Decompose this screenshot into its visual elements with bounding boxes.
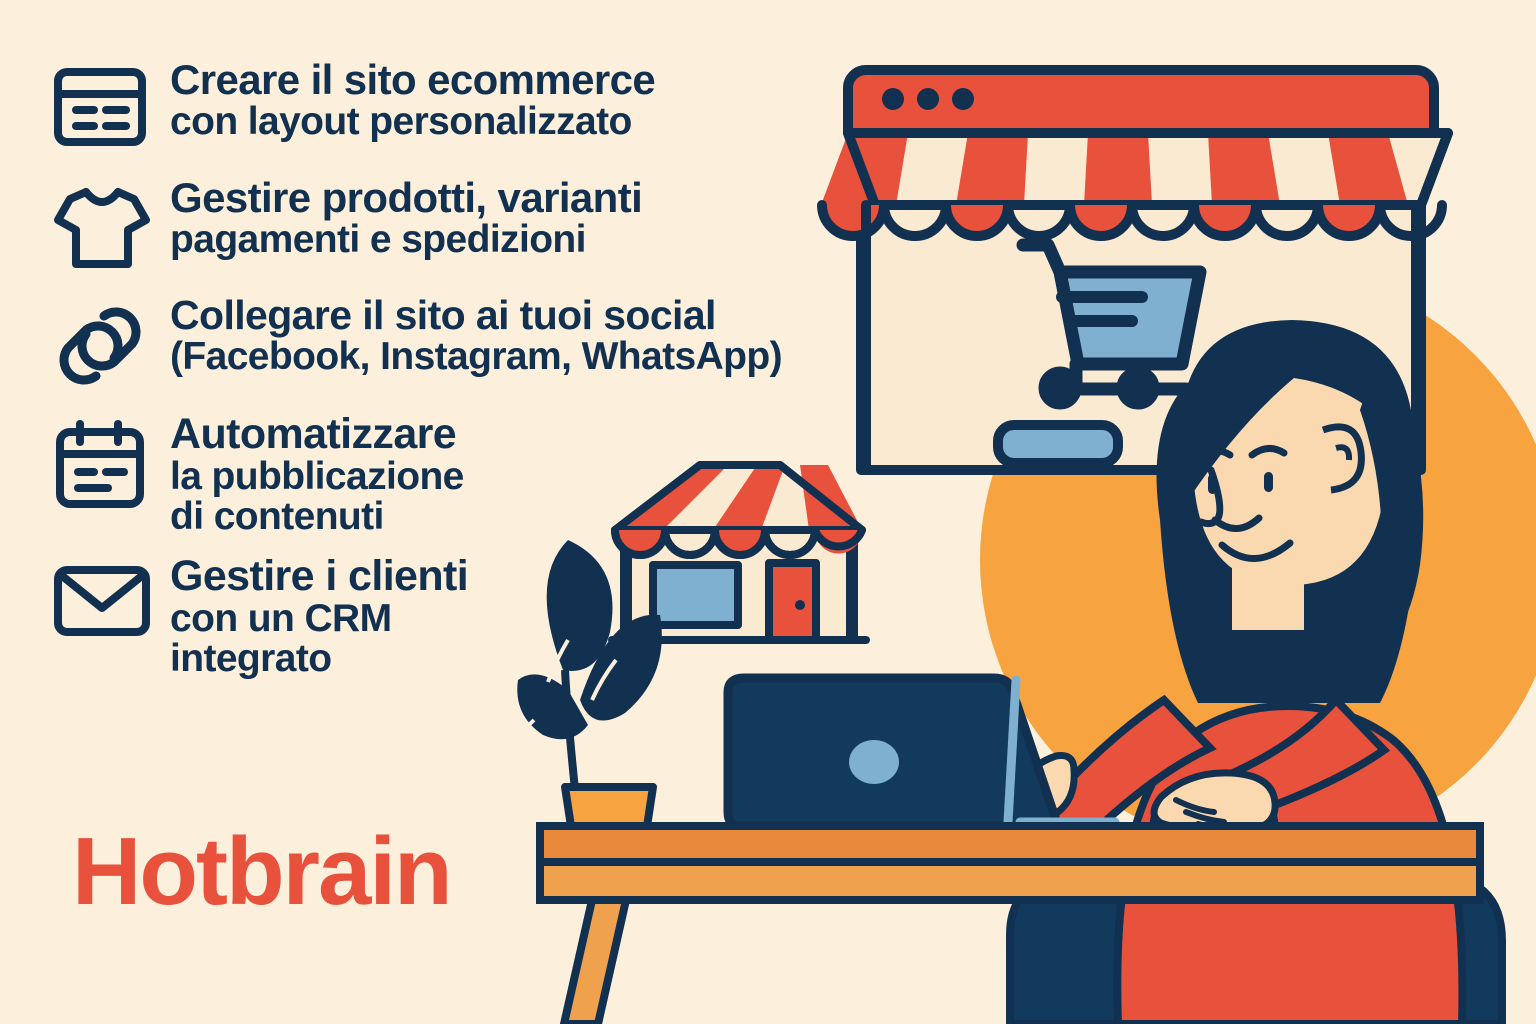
feature-line-2: (Facebook, Instagram, WhatsApp) <box>170 337 782 378</box>
link-icon <box>52 292 170 396</box>
feature-item-crm: Gestire i clienti con un CRM integrato <box>52 552 842 680</box>
envelope-icon <box>52 552 170 656</box>
feature-line-1: Collegare il sito ai tuoi social <box>170 292 716 338</box>
feature-item-products: Gestire prodotti, varianti pagamenti e s… <box>52 174 842 278</box>
feature-line-2: con un CRM <box>170 599 468 640</box>
feature-line-1: Gestire prodotti, varianti <box>170 174 642 221</box>
feature-line-1: Gestire i clienti <box>170 552 468 600</box>
feature-line-2: pagamenti e spedizioni <box>170 220 642 261</box>
feature-line-3: di contenuti <box>170 497 464 538</box>
tshirt-icon <box>52 174 170 278</box>
brand-logo: Hotbrain <box>72 824 451 920</box>
feature-text: Creare il sito ecommerce con layout pers… <box>170 56 655 142</box>
feature-text: Gestire i clienti con un CRM integrato <box>170 552 468 680</box>
feature-text: Automatizzare la pubblicazione di conten… <box>170 410 464 538</box>
call-to-action-button <box>998 425 1118 463</box>
calendar-icon <box>52 410 170 514</box>
feature-line-1: Creare il sito ecommerce <box>170 56 655 103</box>
feature-item-automation: Automatizzare la pubblicazione di conten… <box>52 410 842 538</box>
feature-item-ecommerce-site: Creare il sito ecommerce con layout pers… <box>52 56 842 160</box>
feature-line-3: integrato <box>170 639 468 680</box>
feature-line-2: la pubblicazione <box>170 457 464 498</box>
browser-layout-icon <box>52 56 170 160</box>
feature-list: Creare il sito ecommerce con layout pers… <box>52 56 842 694</box>
feature-line-1: Automatizzare <box>170 410 456 458</box>
feature-line-2: con layout personalizzato <box>170 102 655 143</box>
infographic-canvas: Creare il sito ecommerce con layout pers… <box>0 0 1536 1024</box>
feature-text: Gestire prodotti, varianti pagamenti e s… <box>170 174 642 260</box>
feature-text: Collegare il sito ai tuoi social (Facebo… <box>170 292 782 377</box>
feature-item-social: Collegare il sito ai tuoi social (Facebo… <box>52 292 842 396</box>
